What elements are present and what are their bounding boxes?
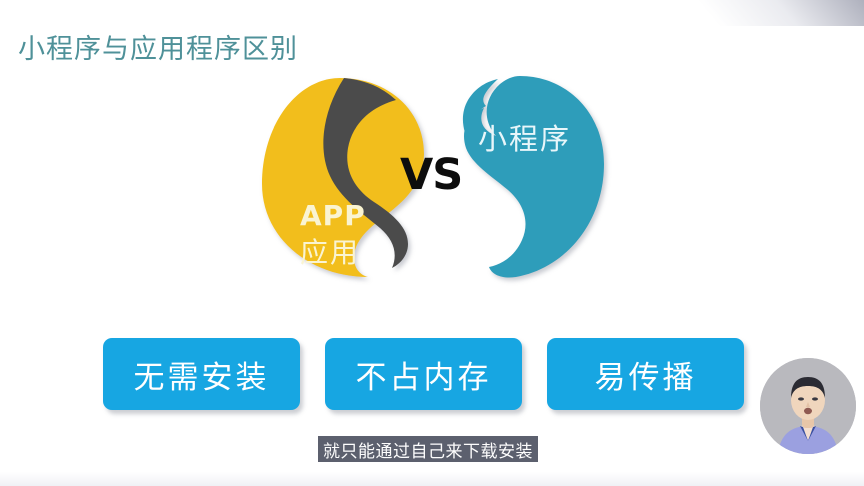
slide-screen: 小程序与应用程序区别 APP 应用 小程序 VS	[0, 0, 864, 486]
comparison-graphic: APP 应用 小程序 VS	[248, 72, 618, 287]
presenter-portrait-icon	[760, 358, 856, 454]
feature-pill-easy-share[interactable]: 易传播	[547, 338, 744, 410]
feature-pill-no-memory[interactable]: 不占内存	[325, 338, 522, 410]
page-title: 小程序与应用程序区别	[18, 27, 298, 66]
bottom-shade-overlay	[0, 472, 864, 486]
avatar[interactable]	[760, 358, 856, 454]
feature-pill-label: 易传播	[595, 352, 697, 397]
feature-pill-label: 无需安装	[134, 352, 270, 397]
feature-button-row: 无需安装 不占内存 易传播	[103, 338, 743, 414]
feature-pill-no-install[interactable]: 无需安装	[103, 338, 300, 410]
miniprogram-comma-shape	[463, 76, 604, 278]
feature-pill-label: 不占内存	[356, 352, 492, 397]
corner-shade-overlay	[654, 0, 864, 26]
subtitle-text: 就只能通过自己来下载安装	[323, 437, 533, 462]
subtitle-bar: 就只能通过自己来下载安装	[318, 436, 538, 462]
vs-text: VS	[400, 150, 462, 200]
